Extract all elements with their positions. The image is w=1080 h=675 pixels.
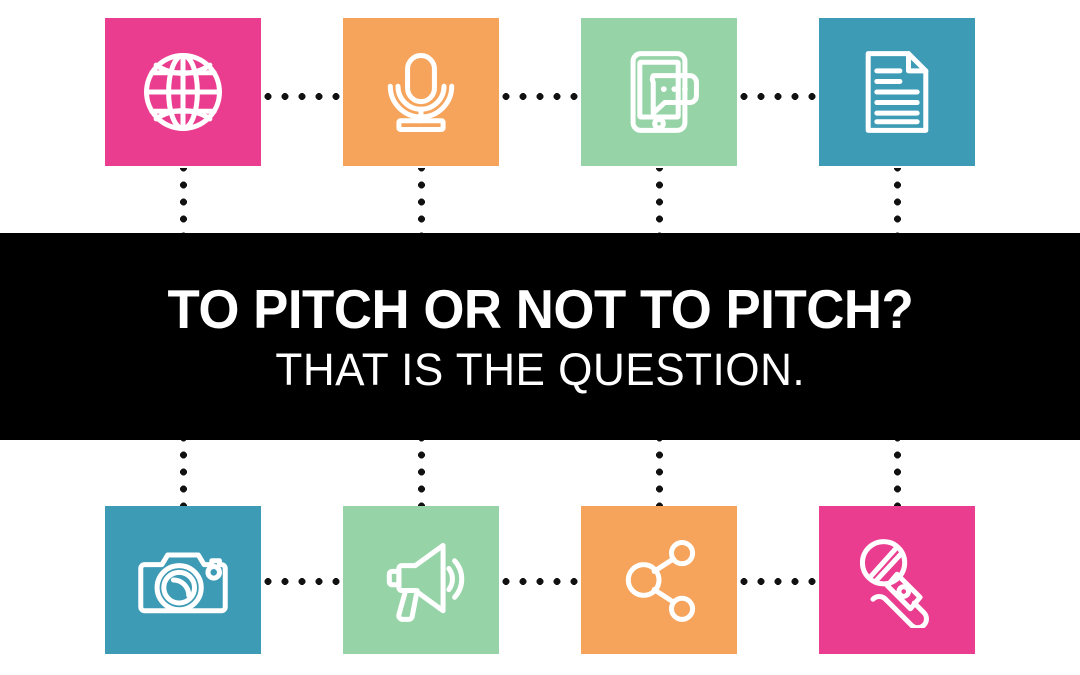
connector-dots-vertical-top-3 [656, 168, 663, 236]
connector-dots-vertical-bottom-4 [894, 438, 901, 506]
title-banner: TO PITCH OR NOT TO PITCH? THAT IS THE QU… [0, 233, 1080, 440]
connector-dots-vertical-bottom-3 [656, 438, 663, 506]
tile-megaphone[interactable] [343, 506, 499, 654]
globe-icon [135, 44, 231, 140]
connector-dots-vertical-top-1 [180, 168, 187, 236]
microphone-handheld-icon [849, 532, 945, 628]
tile-document-article[interactable] [819, 18, 975, 166]
infographic-canvas: TO PITCH OR NOT TO PITCH? THAT IS THE QU… [0, 0, 1080, 675]
connector-dots-top-1-2 [263, 93, 341, 100]
connector-dots-vertical-top-4 [894, 168, 901, 236]
page-title: TO PITCH OR NOT TO PITCH? [167, 282, 913, 337]
connector-dots-bottom-2-3 [501, 578, 579, 585]
tile-microphone-handheld[interactable] [819, 506, 975, 654]
tile-globe[interactable] [105, 18, 261, 166]
connector-dots-top-3-4 [739, 93, 817, 100]
tile-share-network[interactable] [581, 506, 737, 654]
microphone-studio-icon [373, 44, 469, 140]
tile-microphone-studio[interactable] [343, 18, 499, 166]
connector-dots-vertical-bottom-1 [180, 438, 187, 506]
tile-camera[interactable] [105, 506, 261, 654]
tile-smartphone-chat[interactable] [581, 18, 737, 166]
connector-dots-bottom-1-2 [263, 578, 341, 585]
connector-dots-top-2-3 [501, 93, 579, 100]
share-network-icon [611, 532, 707, 628]
camera-icon [135, 532, 231, 628]
megaphone-icon [373, 532, 469, 628]
smartphone-chat-icon [611, 44, 707, 140]
document-article-icon [849, 44, 945, 140]
connector-dots-vertical-bottom-2 [418, 438, 425, 506]
connector-dots-bottom-3-4 [739, 578, 817, 585]
page-subtitle: THAT IS THE QUESTION. [275, 347, 805, 392]
connector-dots-vertical-top-2 [418, 168, 425, 236]
